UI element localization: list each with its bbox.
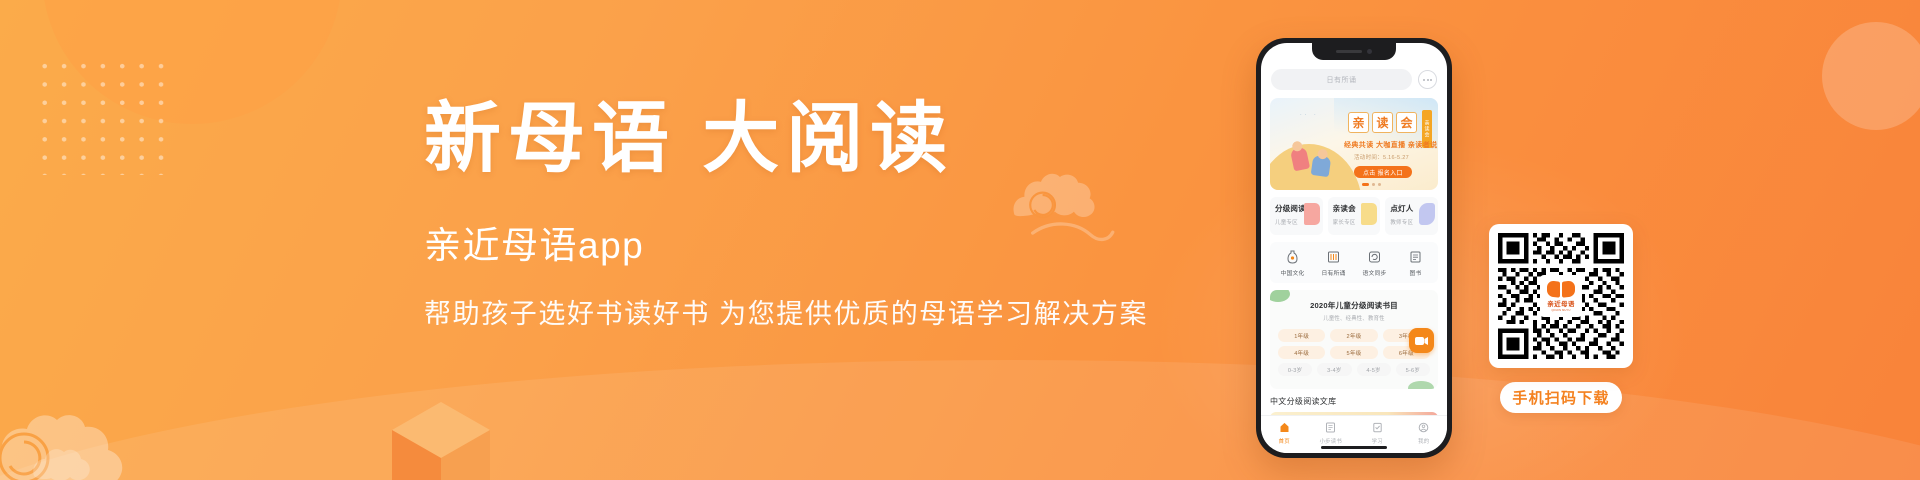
app-name-subtitle: 亲近母语app xyxy=(424,224,1244,268)
hero-banner-card[interactable]: ∙∙ ∙ 亲 读 会 亲读会 经典共读 大咖直播 亲读者说 活动时间：5.16-… xyxy=(1270,98,1438,190)
book-art-icon xyxy=(1419,203,1435,225)
decorative-cube-icon xyxy=(388,398,494,480)
more-dots-icon[interactable] xyxy=(1418,70,1437,89)
book-list-section: 2020年儿童分级阅读书目 儿童性、经典性、教育性 1年级 2年级 3年级 4年… xyxy=(1270,290,1438,389)
brand-logo: 亲近母语 QINJIN MUYU xyxy=(1540,275,1582,317)
quick-link-label: 语文同步 xyxy=(1363,268,1387,277)
hero-char: 会 xyxy=(1396,112,1417,133)
reading-icon xyxy=(1325,421,1336,434)
hero-signup-button[interactable]: 点击 报名入口 xyxy=(1354,166,1412,178)
category-card-graded-reading[interactable]: 分级阅读 儿童专区 xyxy=(1270,197,1323,235)
decorative-circle-top-right xyxy=(1822,22,1920,130)
book-list-title: 2020年儿童分级阅读书目 xyxy=(1278,300,1430,311)
phone-mockup: 日有所诵 ∙∙ ∙ 亲 读 会 亲读会 经典共读 大咖直播 亲读者说 xyxy=(1256,38,1452,458)
banner-tagline: 帮助孩子选好书读好书 为您提供优质的母语学习解决方案 xyxy=(424,297,1244,332)
grade-row: 1年级 2年级 3年级 xyxy=(1278,329,1430,342)
birds-icon: ∙∙ ∙ xyxy=(1300,112,1319,118)
book-icon xyxy=(1408,249,1423,264)
brand-name: 亲近母语 xyxy=(1547,298,1575,308)
library-heading: 中文分级阅读文库 xyxy=(1270,396,1438,407)
phone-screen: 日有所诵 ∙∙ ∙ 亲 读 会 亲读会 经典共读 大咖直播 亲读者说 xyxy=(1261,43,1447,453)
quick-link-label: 日有所诵 xyxy=(1322,268,1346,277)
hero-char: 读 xyxy=(1372,112,1393,133)
app-search-bar[interactable]: 日有所诵 xyxy=(1271,69,1437,90)
cloud-motif-small-icon xyxy=(30,442,100,480)
book-art-icon xyxy=(1361,203,1377,225)
hero-time: 活动时间：5.16-5.27 xyxy=(1354,153,1409,161)
search-input[interactable]: 日有所诵 xyxy=(1271,69,1412,90)
tab-label: 小步读书 xyxy=(1320,437,1342,445)
user-icon xyxy=(1418,421,1429,434)
home-icon xyxy=(1279,421,1290,434)
speaker-icon xyxy=(1336,50,1362,53)
brand-name-en: QINJIN MUYU xyxy=(1551,309,1570,312)
grade-chip[interactable]: 4年级 xyxy=(1278,346,1325,359)
home-indicator xyxy=(1321,446,1387,449)
leaf-decoration-icon xyxy=(1408,381,1434,389)
camera-icon xyxy=(1367,49,1372,54)
hero-title: 亲 读 会 xyxy=(1348,112,1417,133)
qr-code-card[interactable]: 亲近母语 QINJIN MUYU xyxy=(1489,224,1633,368)
child-illustration-2 xyxy=(1311,155,1332,177)
book-stack-icon xyxy=(1326,249,1341,264)
quick-link-books[interactable]: 图书 xyxy=(1395,249,1436,277)
sync-icon xyxy=(1367,249,1382,264)
grade-chip[interactable]: 1年级 xyxy=(1278,329,1325,342)
clipboard-icon xyxy=(1372,421,1383,434)
age-chip[interactable]: 0-3岁 xyxy=(1278,363,1312,376)
quick-links-row: 中国文化 日有所诵 语文同步 xyxy=(1270,242,1438,283)
banner-copy: 新母语 大阅读 亲近母语app 帮助孩子选好书读好书 为您提供优质的母语学习解决… xyxy=(424,96,1244,332)
tab-home[interactable]: 首页 xyxy=(1261,421,1308,445)
quick-link-label: 图书 xyxy=(1410,268,1422,277)
hero-char: 亲 xyxy=(1348,112,1369,133)
phone-notch xyxy=(1312,43,1396,60)
quick-link-label: 中国文化 xyxy=(1281,268,1305,277)
promo-banner: 新母语 大阅读 亲近母语app 帮助孩子选好书读好书 为您提供优质的母语学习解决… xyxy=(0,0,1920,480)
carousel-dots[interactable] xyxy=(1362,183,1381,186)
age-chip[interactable]: 4-5岁 xyxy=(1357,363,1391,376)
tab-reading[interactable]: 小步读书 xyxy=(1308,421,1355,445)
grade-chip[interactable]: 2年级 xyxy=(1330,329,1377,342)
hero-subtitle: 经典共读 大咖直播 亲读者说 xyxy=(1344,140,1438,150)
grade-row: 4年级 5年级 6年级 xyxy=(1278,346,1430,359)
qr-download-block: 亲近母语 QINJIN MUYU 手机扫码下载 xyxy=(1489,224,1633,413)
book-list-subtitle: 儿童性、经典性、教育性 xyxy=(1278,314,1430,322)
tab-label: 我的 xyxy=(1418,437,1429,445)
quick-link-daily-recitation[interactable]: 日有所诵 xyxy=(1313,249,1354,277)
category-card-parent-club[interactable]: 亲读会 家长专区 xyxy=(1328,197,1381,235)
search-placeholder: 日有所诵 xyxy=(1327,75,1357,85)
decorative-dot-grid xyxy=(33,55,167,175)
video-play-icon[interactable] xyxy=(1409,328,1434,353)
download-button[interactable]: 手机扫码下载 xyxy=(1500,382,1622,413)
page-title: 新母语 大阅读 xyxy=(424,96,1244,182)
tab-study[interactable]: 学习 xyxy=(1354,421,1401,445)
tab-label: 学习 xyxy=(1372,437,1383,445)
age-row: 0-3岁 3-4岁 4-5岁 5-6岁 xyxy=(1278,363,1430,376)
grade-chip-rows: 1年级 2年级 3年级 4年级 5年级 6年级 0-3岁 3-4岁 4-5岁 5… xyxy=(1278,329,1430,376)
open-book-icon xyxy=(1547,281,1575,297)
tab-profile[interactable]: 我的 xyxy=(1401,421,1448,445)
quick-link-curriculum-sync[interactable]: 语文同步 xyxy=(1354,249,1395,277)
book-art-icon xyxy=(1304,203,1320,225)
category-card-teacher[interactable]: 点灯人 教师专区 xyxy=(1385,197,1438,235)
grade-chip[interactable]: 5年级 xyxy=(1330,346,1377,359)
vase-icon xyxy=(1285,249,1300,264)
age-chip[interactable]: 5-6岁 xyxy=(1396,363,1430,376)
tab-label: 首页 xyxy=(1279,437,1290,445)
age-chip[interactable]: 3-4岁 xyxy=(1317,363,1351,376)
category-cards: 分级阅读 儿童专区 亲读会 家长专区 点灯人 教师专区 xyxy=(1270,197,1438,235)
quick-link-chinese-culture[interactable]: 中国文化 xyxy=(1272,249,1313,277)
